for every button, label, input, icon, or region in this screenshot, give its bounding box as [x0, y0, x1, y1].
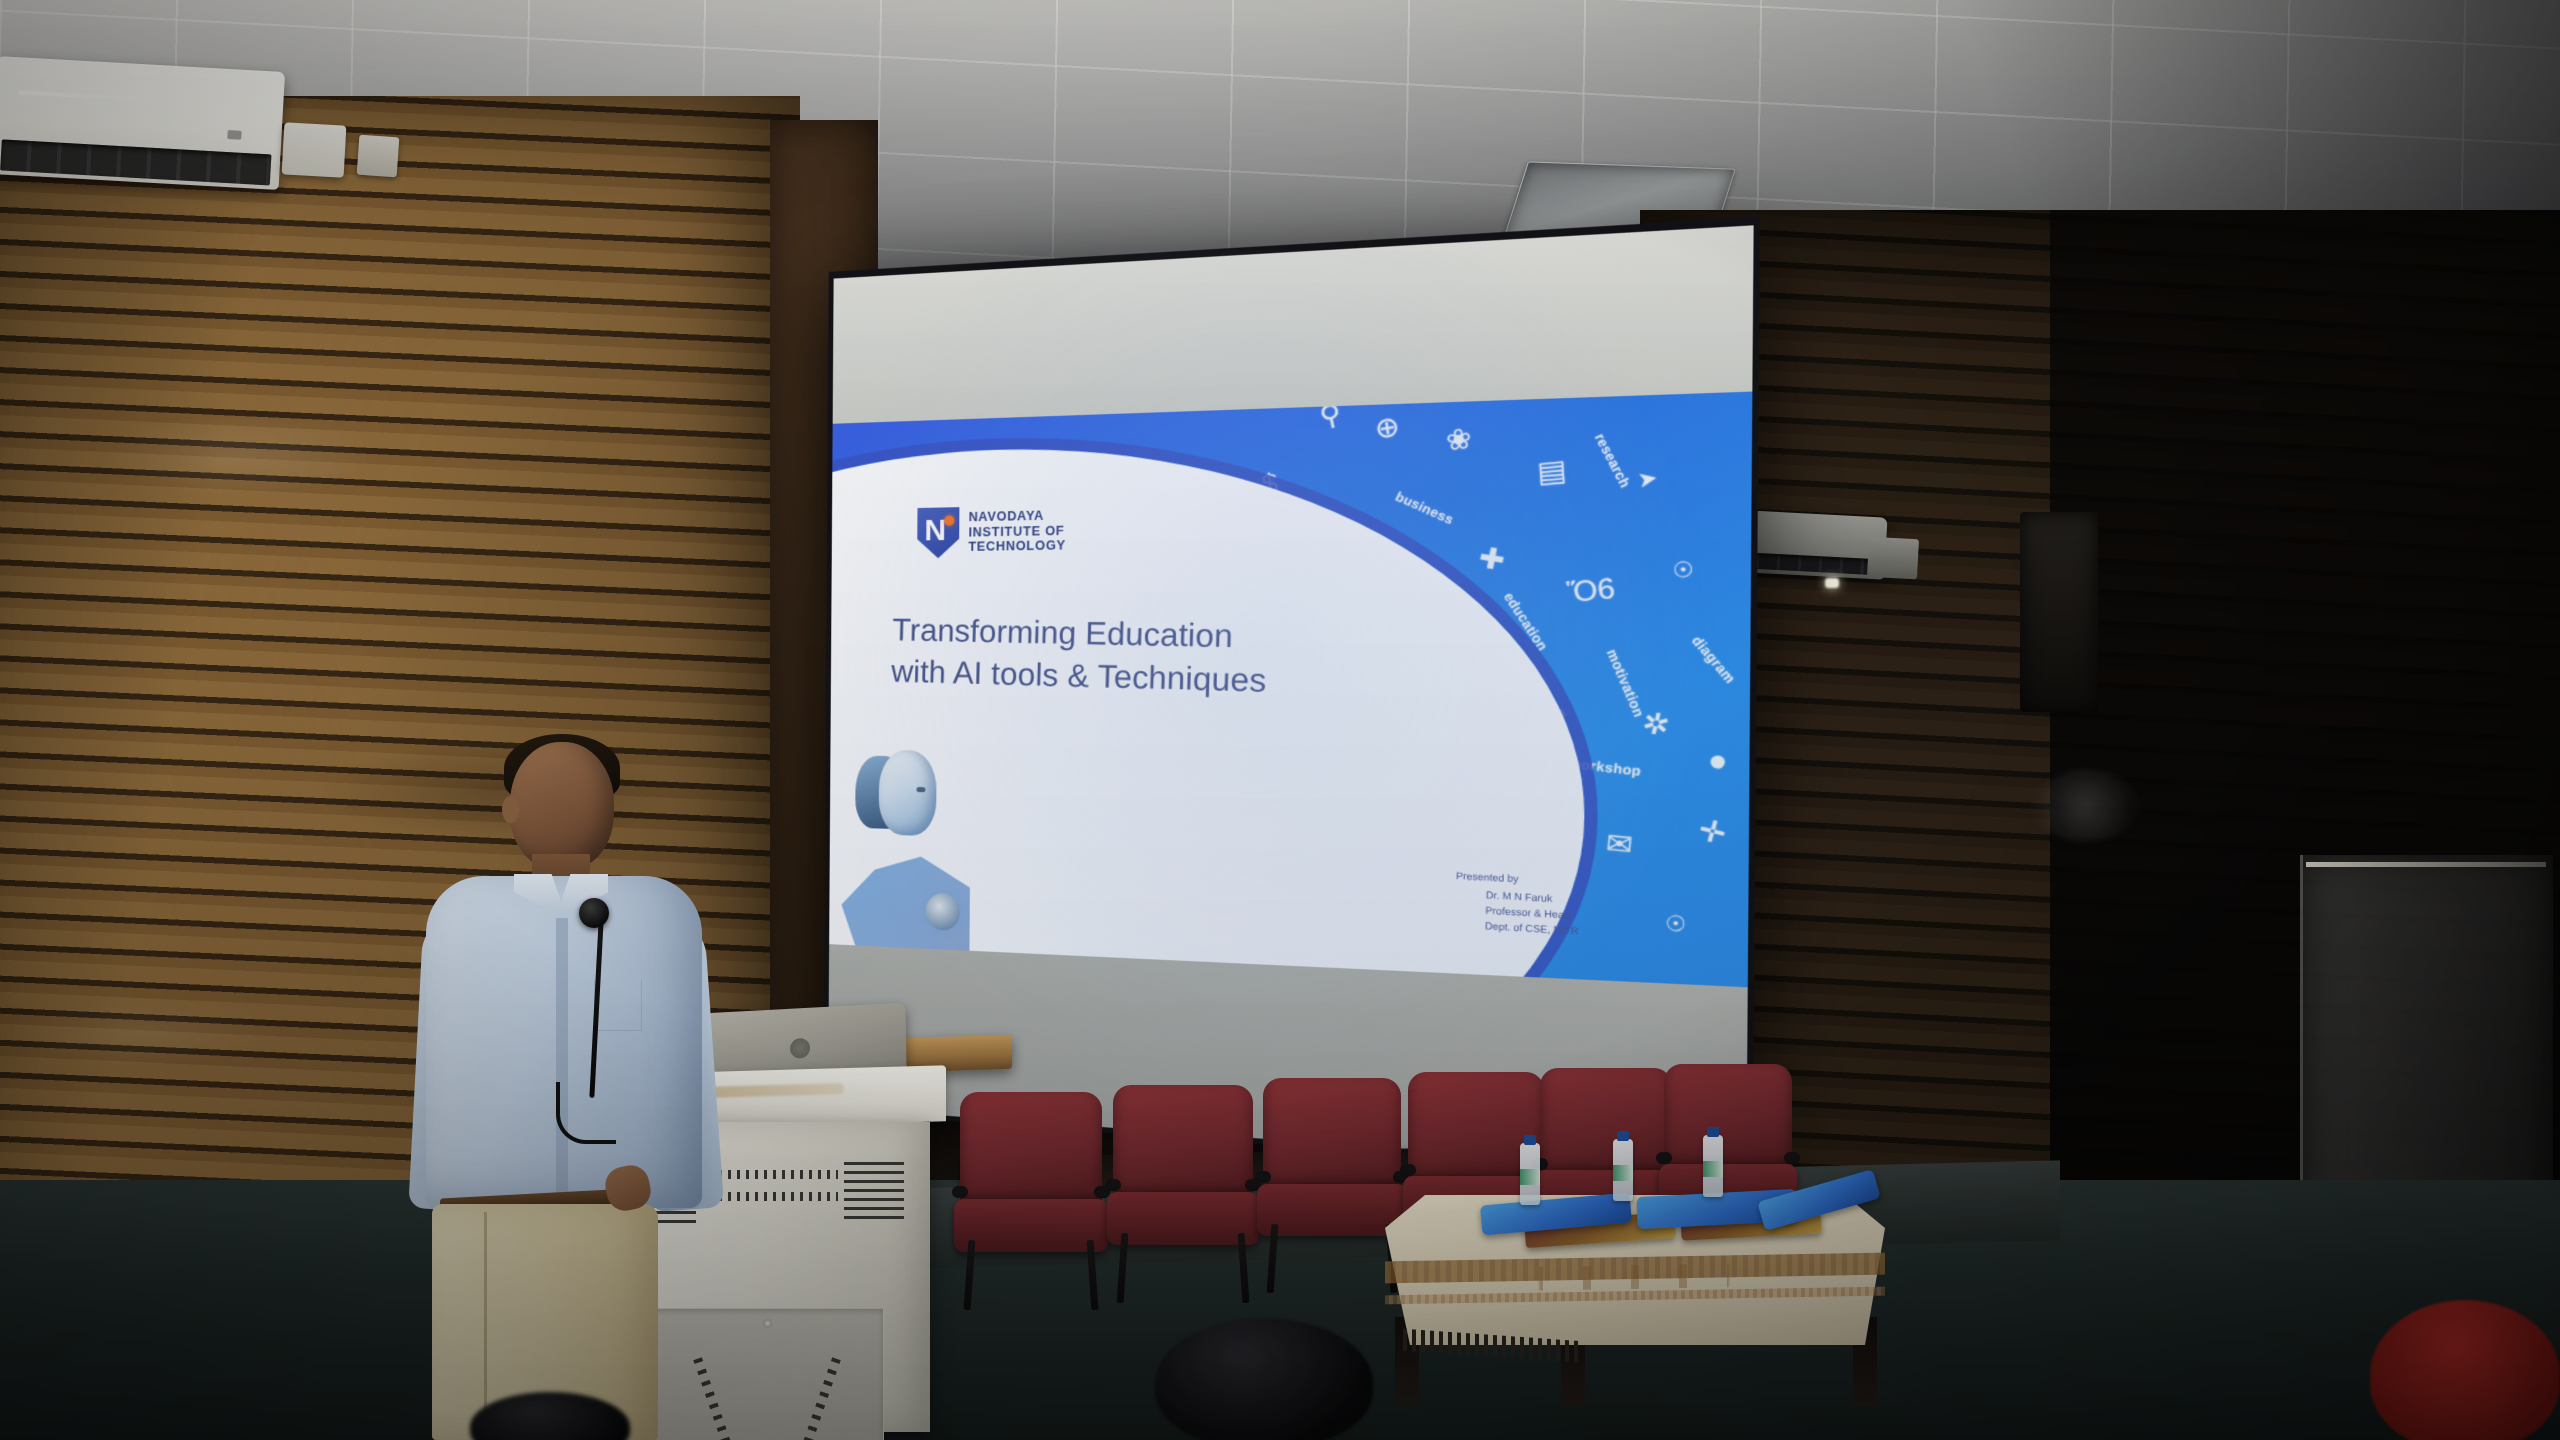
air-conditioner-left: [0, 56, 285, 190]
logo-orange-dot-icon: [944, 515, 954, 525]
chair-seat: [954, 1199, 1107, 1252]
chair-backrest: [960, 1092, 1102, 1207]
audience-head-red-seat: [2370, 1300, 2560, 1440]
chair-backrest: [1263, 1078, 1401, 1192]
chair-armrest: [1400, 1164, 1416, 1176]
chair-seat: [1107, 1192, 1258, 1245]
ceiling-fan-icon: [2030, 770, 2140, 842]
chair-armrest: [1656, 1152, 1672, 1164]
logo-name-text: NAVODAYA INSTITUTE OF TECHNOLOGY: [968, 508, 1066, 554]
logo-shield-icon: N: [917, 507, 959, 559]
slide-title: Transforming Education with AI tools & T…: [891, 610, 1483, 710]
presentation-slide: ⊕⚲$❀business✐✚▤research➤Ὅ6education☉diag…: [829, 392, 1752, 988]
ac-conduit-box-right: [1867, 537, 1919, 580]
microphone-icon: [579, 898, 609, 928]
bottle-label: [1703, 1161, 1723, 1177]
presenter-details: Dr. M N Faruk Professor & Head Dept. of …: [1454, 886, 1579, 939]
wall-speaker-box: [2020, 512, 2098, 712]
podium-v-vent-pattern: [697, 1355, 837, 1440]
refreshment-table: [1385, 1195, 1885, 1405]
slide-content: N NAVODAYA INSTITUTE OF TECHNOLOGY Trans…: [829, 392, 1752, 988]
presenter-shirt-pocket: [594, 980, 642, 1031]
ac-sheen: [18, 90, 148, 101]
chair-backrest: [1664, 1064, 1792, 1172]
microphone-cable: [556, 1082, 616, 1144]
presenter-shirt-placket: [556, 918, 568, 1198]
bottle-label: [1520, 1169, 1540, 1185]
slide-credits: Presented by Dr. M N Faruk Professor & H…: [1454, 870, 1580, 940]
v-vent-right: [788, 1357, 840, 1440]
bottle-cap-icon: [1707, 1127, 1719, 1137]
chair-backrest: [1113, 1085, 1253, 1200]
water-bottle[interactable]: [1520, 1143, 1540, 1205]
chair-backrest: [1540, 1068, 1672, 1178]
panel-highlight: [2306, 862, 2546, 867]
podium-vent-right-icon: [844, 1162, 904, 1222]
robot-face: [879, 750, 937, 836]
laptop-logo-icon: [790, 1038, 810, 1059]
panel-screw-icon: [763, 1319, 772, 1328]
water-bottle[interactable]: [1703, 1135, 1723, 1197]
bottle-cap-icon: [1524, 1135, 1536, 1145]
ac-conduit-box: [282, 122, 347, 177]
ac-brand-badge: [227, 130, 241, 140]
presented-by-label: Presented by: [1455, 870, 1579, 887]
bottle-cap-icon: [1617, 1131, 1629, 1141]
auditorium-chair[interactable]: [1113, 1085, 1253, 1290]
audience-head: [1155, 1318, 1373, 1440]
logo-letter-n: N: [924, 515, 946, 546]
institute-logo: N NAVODAYA INSTITUTE OF TECHNOLOGY: [917, 505, 1066, 559]
auditorium-chair[interactable]: [960, 1092, 1102, 1297]
ac-status-led-icon: [1825, 578, 1839, 588]
auditorium-chair[interactable]: [1263, 1078, 1401, 1281]
water-bottle[interactable]: [1613, 1139, 1633, 1201]
podium-vent-bar-icon: [710, 1192, 838, 1201]
chair-armrest: [1105, 1179, 1121, 1191]
chair-armrest: [1255, 1171, 1271, 1183]
presenter-ear: [502, 796, 519, 823]
podium-vent-bar-icon: [710, 1170, 838, 1179]
seminar-hall-photo: ⊕⚲$❀business✐✚▤research➤Ὅ6education☉diag…: [0, 0, 2560, 1440]
wall-junction-plate: [357, 135, 400, 178]
presenter-head: [510, 742, 614, 870]
ai-robot-artwork: [841, 740, 971, 962]
chair-armrest: [1784, 1152, 1800, 1164]
trouser-crease: [484, 1212, 487, 1438]
bottle-label: [1613, 1165, 1633, 1181]
